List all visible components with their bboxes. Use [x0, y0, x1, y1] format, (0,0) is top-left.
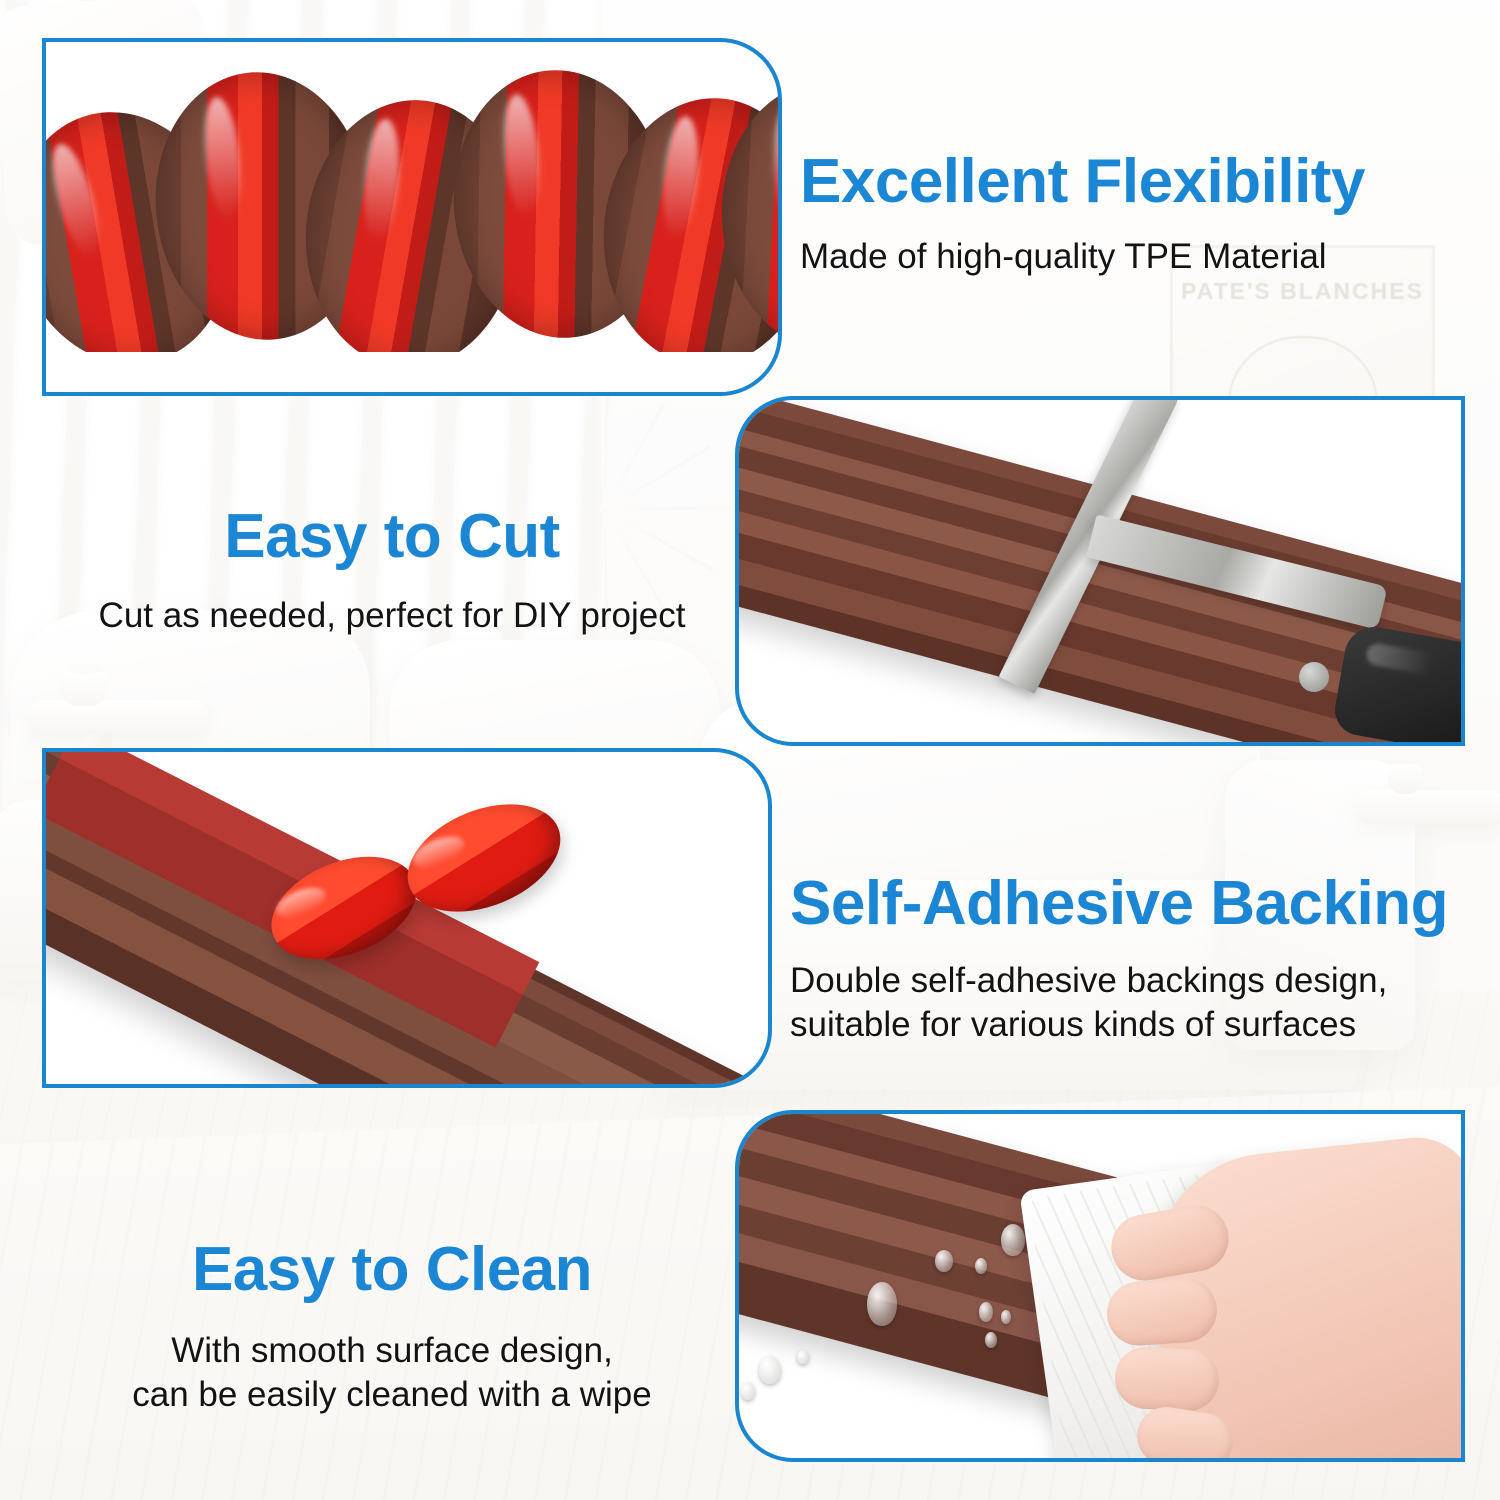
photo-scissors-cutting — [739, 400, 1461, 742]
water-droplet — [935, 1250, 953, 1272]
feature-image-self-adhesive — [42, 748, 772, 1088]
headline-easy-to-cut: Easy to Cut — [42, 505, 742, 568]
water-droplet — [867, 1282, 897, 1326]
photo-adhesive-backing — [46, 752, 768, 1084]
subline-easy-to-cut: Cut as needed, perfect for DIY project — [42, 594, 742, 638]
feature-image-easy-to-clean — [735, 1110, 1465, 1462]
subline-easy-to-clean-2: can be easily cleaned with a wipe — [42, 1373, 742, 1417]
photo-coiled-strip — [46, 42, 778, 392]
water-droplet — [797, 1350, 809, 1364]
headline-flexibility: Excellent Flexibility — [800, 150, 1365, 213]
scissors-handle — [1331, 622, 1465, 746]
headline-self-adhesive: Self-Adhesive Backing — [790, 872, 1448, 935]
photo-wiping-strip — [739, 1114, 1461, 1458]
water-droplet — [975, 1258, 987, 1274]
headline-easy-to-clean: Easy to Clean — [42, 1238, 742, 1301]
water-droplet — [1001, 1224, 1025, 1256]
subline-easy-to-clean-1: With smooth surface design, — [42, 1329, 742, 1373]
water-droplet — [979, 1302, 993, 1322]
feature-image-easy-to-cut — [735, 396, 1465, 746]
coil-group — [42, 64, 782, 364]
subline-self-adhesive-1: Double self-adhesive backings design, — [790, 959, 1448, 1003]
feature-text-flexibility: Excellent Flexibility Made of high-quali… — [800, 150, 1365, 279]
subline-self-adhesive-2: suitable for various kinds of surfaces — [790, 1003, 1448, 1047]
feature-image-flexibility — [42, 38, 782, 396]
feature-text-self-adhesive: Self-Adhesive Backing Double self-adhesi… — [790, 872, 1448, 1047]
water-droplet — [759, 1356, 781, 1384]
subline-flexibility: Made of high-quality TPE Material — [800, 235, 1365, 279]
finger — [1105, 1276, 1219, 1348]
water-droplet — [985, 1332, 997, 1348]
feature-text-easy-to-cut: Easy to Cut Cut as needed, perfect for D… — [42, 505, 742, 638]
water-droplet — [1001, 1310, 1011, 1324]
infographic-canvas: PATE'S BLANCHES — [0, 0, 1500, 1500]
feature-text-easy-to-clean: Easy to Clean With smooth surface design… — [42, 1238, 742, 1417]
photo-bottom-mask — [46, 352, 778, 392]
scissors-pivot-screw — [1299, 662, 1329, 692]
water-droplet — [741, 1382, 755, 1400]
finger — [1113, 1345, 1220, 1412]
